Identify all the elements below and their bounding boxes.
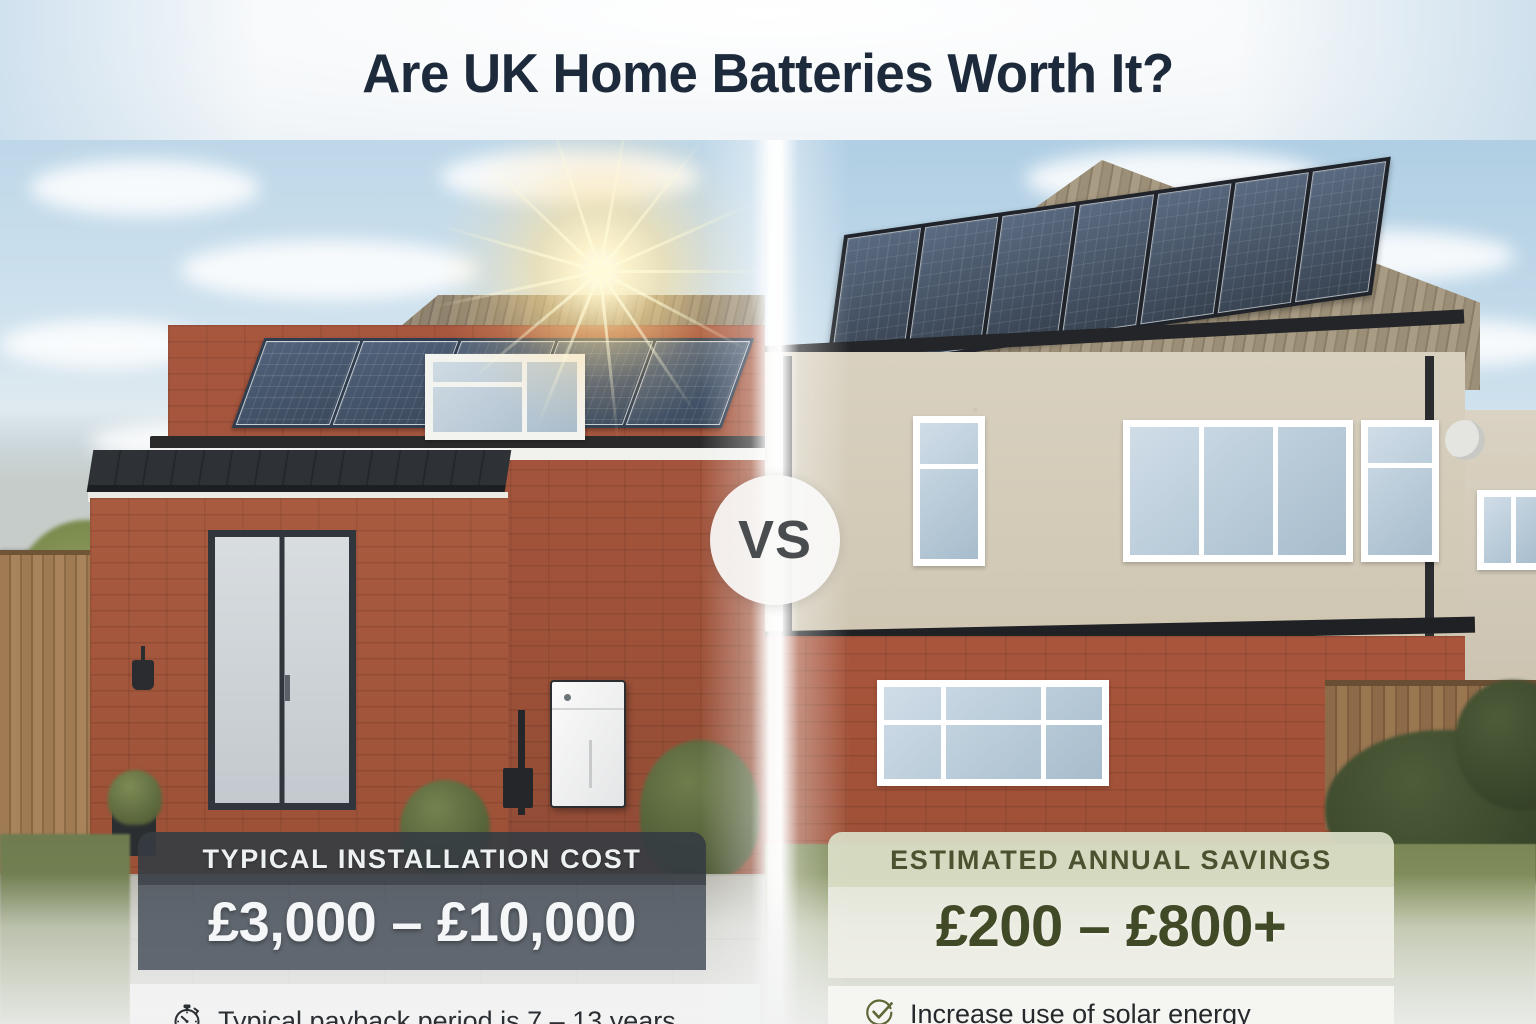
cloud (180, 240, 480, 300)
savings-card-detail-panel: Increase use of solar energy Optimise of… (828, 986, 1394, 1024)
lawn-left (0, 834, 130, 1024)
home-battery-unit (550, 680, 626, 808)
porch-flat-roof (87, 450, 512, 492)
page-title: Are UK Home Batteries Worth It? (31, 46, 1506, 101)
outdoor-wall-lamp (132, 660, 154, 690)
solar-panel (985, 206, 1076, 347)
upstairs-window-left (425, 354, 585, 440)
upstairs-window-small (913, 416, 985, 566)
infographic-canvas: VS TYPICAL INSTALLATION COST £3,000 – £1… (0, 0, 1536, 1024)
cloud (30, 160, 260, 216)
upstairs-window-wide (1123, 420, 1353, 562)
solar-panel (1062, 194, 1153, 335)
savings-card-value-bar: £200 – £800+ (828, 887, 1394, 978)
background-photo-composite: VS TYPICAL INSTALLATION COST £3,000 – £1… (0, 120, 1536, 1024)
solar-panel (1217, 172, 1308, 313)
neighbour-window (1477, 490, 1536, 570)
meter-box (503, 768, 533, 808)
cloud (440, 150, 700, 204)
savings-card-heading: ESTIMATED ANNUAL SAVINGS (890, 845, 1332, 875)
solar-panel (1295, 161, 1386, 302)
payback-row: Typical payback period is 7 – 13 years (170, 1002, 676, 1024)
solar-panel (1140, 183, 1231, 324)
installation-cost-card: TYPICAL INSTALLATION COST £3,000 – £10,0… (138, 832, 706, 970)
cost-card-value: £3,000 – £10,000 (208, 890, 636, 953)
cost-card-value-bar: £3,000 – £10,000 (138, 885, 706, 970)
vs-badge: VS (710, 475, 840, 605)
benefit-label: Increase use of solar energy (910, 999, 1251, 1024)
payback-note: Typical payback period is 7 – 13 years (218, 1006, 676, 1024)
ground-floor-window-right (877, 680, 1109, 786)
french-doors (208, 530, 356, 810)
cost-card-heading-bar: TYPICAL INSTALLATION COST (138, 832, 706, 885)
rendered-wall-upper (765, 352, 1465, 642)
upstairs-window-right (1361, 420, 1439, 562)
savings-card-value: £200 – £800+ (936, 894, 1286, 959)
check-circle-icon (864, 996, 896, 1024)
satellite-dish (1445, 420, 1485, 460)
vs-label: VS (738, 509, 812, 571)
savings-card-heading-bar: ESTIMATED ANNUAL SAVINGS (828, 832, 1394, 887)
benefit-item: Increase use of solar energy (864, 996, 1394, 1024)
stopwatch-icon (170, 1002, 204, 1024)
cost-card-detail-panel: Typical payback period is 7 – 13 years H… (130, 984, 760, 1024)
annual-savings-card: ESTIMATED ANNUAL SAVINGS £200 – £800+ (828, 832, 1394, 978)
shrub (108, 770, 162, 825)
cost-card-heading: TYPICAL INSTALLATION COST (203, 844, 642, 874)
